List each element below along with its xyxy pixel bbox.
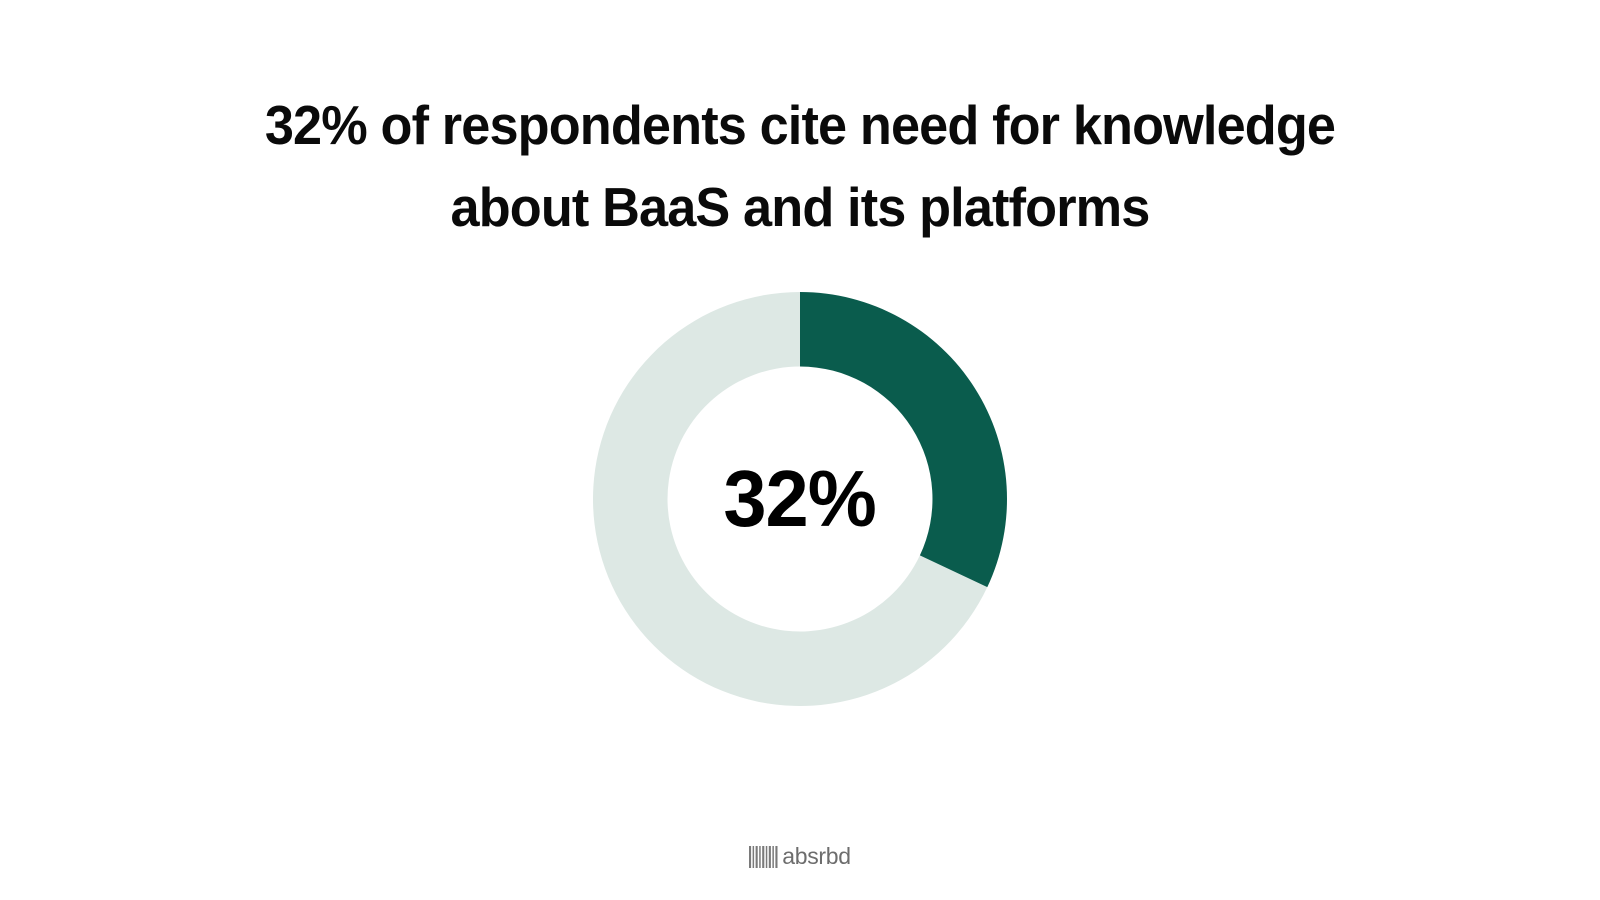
donut-segment-value [800, 292, 1007, 587]
title-line-2: about BaaS and its platforms [202, 166, 1399, 248]
footer: absrbd [0, 845, 1600, 868]
donut-chart: 32% [593, 292, 1007, 706]
donut-chart-svg [593, 292, 1007, 706]
brand-logo: absrbd [749, 845, 851, 868]
slide-root: 32% of respondents cite need for knowled… [0, 0, 1600, 900]
barcode-bars-icon [749, 846, 779, 868]
brand-logo-text: absrbd [782, 845, 851, 868]
page-title: 32% of respondents cite need for knowled… [170, 84, 1430, 248]
title-line-1: 32% of respondents cite need for knowled… [202, 84, 1399, 166]
